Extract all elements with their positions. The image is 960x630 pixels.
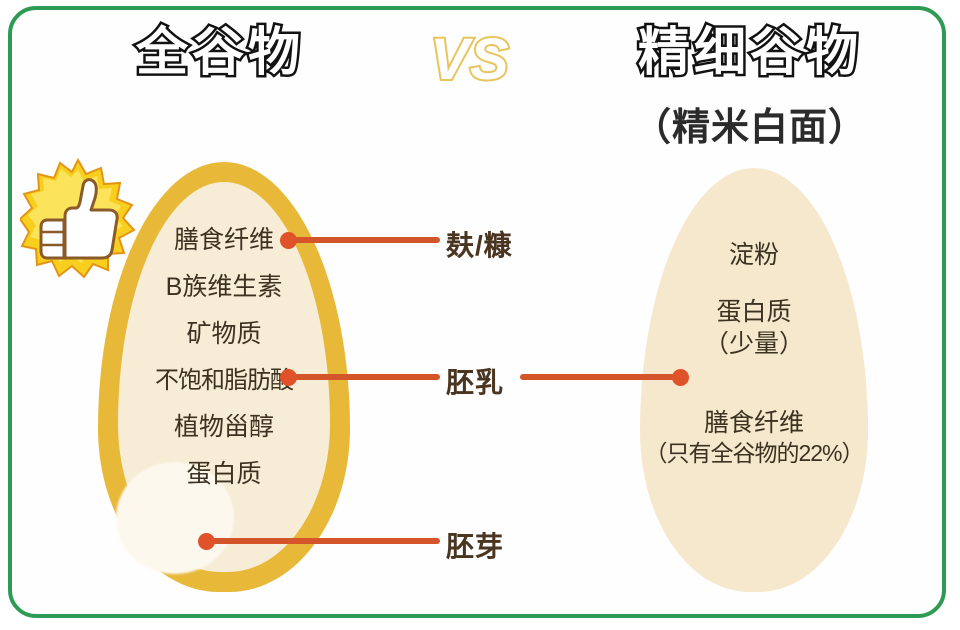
- list-item: 不饱和脂肪酸: [98, 369, 350, 393]
- connector-line-endosperm-right: [520, 374, 680, 380]
- list-item: 植物甾醇: [98, 415, 350, 440]
- infographic-root: 全谷物 VS 精细谷物 （精米白面） 膳食纤维 B族维生素 矿物质 不饱和脂肪酸…: [0, 0, 960, 630]
- connector-dot-germ: [198, 533, 215, 550]
- connector-dot-endosperm-right: [672, 369, 689, 386]
- list-item: 矿物质: [98, 322, 350, 347]
- connector-line-germ: [210, 538, 440, 544]
- page-subtitle-refined-grain: （精米白面）: [580, 96, 920, 151]
- connector-line-bran: [292, 237, 440, 243]
- list-item: 蛋白质: [98, 462, 350, 487]
- callout-label-germ: 胚芽: [446, 525, 504, 565]
- list-item: 膳食纤维: [630, 408, 878, 439]
- refined-grain-nutrient-list: 淀粉 蛋白质 （少量） 膳食纤维 （只有全谷物的22%）: [630, 240, 878, 468]
- list-item: （少量）: [630, 329, 878, 360]
- callout-label-endosperm: 胚乳: [446, 361, 504, 401]
- connector-dot-endosperm-left: [280, 369, 297, 386]
- connector-line-endosperm-left: [292, 374, 440, 380]
- list-item: （只有全谷物的22%）: [630, 439, 878, 468]
- callout-label-bran: 麸/糠: [446, 224, 513, 264]
- list-item: 淀粉: [630, 240, 878, 271]
- page-title-refined-grain: 精细谷物: [580, 24, 920, 84]
- list-item: 蛋白质: [630, 297, 878, 328]
- connector-dot-bran: [280, 232, 297, 249]
- page-title-whole-grain: 全谷物: [60, 24, 380, 84]
- vs-label: VS: [400, 26, 540, 93]
- whole-grain-nutrient-list: 膳食纤维 B族维生素 矿物质 不饱和脂肪酸 植物甾醇 蛋白质: [98, 228, 350, 509]
- list-item: B族维生素: [98, 275, 350, 300]
